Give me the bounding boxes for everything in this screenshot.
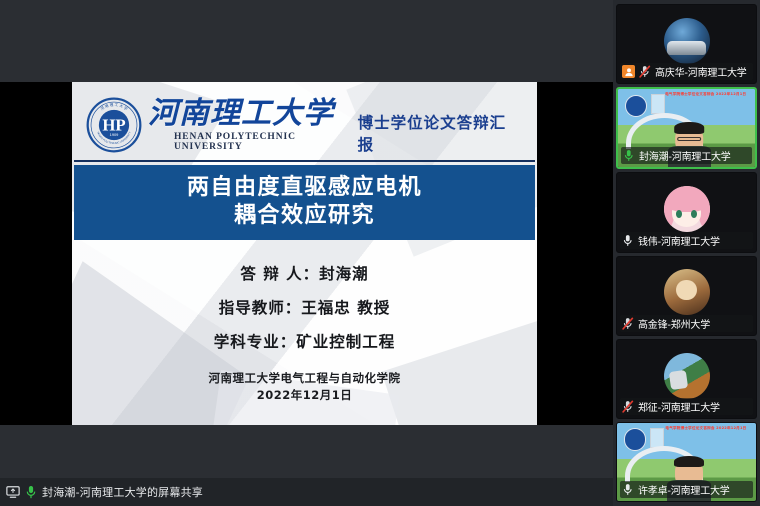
field-presenter: 答 辩 人：封海潮 xyxy=(72,262,537,284)
slide-title-line-1: 两自由度直驱感应电机 xyxy=(74,174,535,202)
participant-label: 高金锋-郑州大学 xyxy=(620,315,753,332)
share-status-label: 封海潮-河南理工大学的屏幕共享 xyxy=(42,484,203,500)
participant-strip[interactable]: 高庆华-河南理工大学 电气学院博士学位论文答辩会 2022年12月1日 封海潮- xyxy=(613,0,760,506)
host-badge-icon xyxy=(622,65,635,78)
participant-tile[interactable]: 电气学院博士学位论文答辩会 2022年12月1日 许孝卓-河南理工大学 xyxy=(616,422,757,502)
participant-label: 郑征-河南理工大学 xyxy=(620,398,753,415)
participant-tile[interactable]: 郑征-河南理工大学 xyxy=(616,339,757,419)
participant-name: 高庆华-河南理工大学 xyxy=(655,64,747,79)
svg-text:1909: 1909 xyxy=(110,132,119,137)
seal-icon xyxy=(624,428,646,450)
university-logo-icon: HP 1909 河 南 理 工 大 学 HENAN POLYTECHNIC UN… xyxy=(86,97,142,153)
slide-footer: 河南理工大学电气工程与自动化学院 2022年12月1日 xyxy=(72,370,537,405)
avatar xyxy=(664,269,710,315)
mic-muted-icon xyxy=(622,317,634,330)
share-status-bar: 封海潮-河南理工大学的屏幕共享 xyxy=(0,478,613,506)
participant-name: 许孝卓-河南理工大学 xyxy=(638,482,730,497)
shared-screen-region[interactable]: HP 1909 河 南 理 工 大 学 HENAN POLYTECHNIC UN… xyxy=(0,0,613,478)
participant-label: 许孝卓-河南理工大学 xyxy=(620,481,753,498)
participant-name: 封海潮-河南理工大学 xyxy=(639,148,731,163)
university-name-en: HENAN POLYTECHNIC UNIVERSITY xyxy=(174,132,358,152)
participant-tile[interactable]: 钱伟-河南理工大学 xyxy=(616,172,757,252)
field-supervisor: 指导教师：王福忠 教授 xyxy=(72,296,537,318)
mic-muted-icon xyxy=(622,400,634,413)
screen-share-icon xyxy=(6,485,20,499)
mic-unmuted-icon xyxy=(622,234,634,247)
slide-title-line-2: 耦合效应研究 xyxy=(74,202,535,230)
participant-tile[interactable]: 高庆华-河南理工大学 xyxy=(616,4,757,84)
participant-label: 钱伟-河南理工大学 xyxy=(620,232,753,249)
participant-label: 封海潮-河南理工大学 xyxy=(621,147,752,164)
participant-name: 高金锋-郑州大学 xyxy=(638,316,710,331)
university-wordmark: 河南理工大学 HENAN POLYTECHNIC UNIVERSITY xyxy=(148,98,358,152)
university-name-cn: 河南理工大学 xyxy=(148,98,358,130)
participant-name: 郑征-河南理工大学 xyxy=(638,399,720,414)
video-banner-text: 电气学院博士学位论文答辩会 2022年12月1日 xyxy=(663,92,748,108)
avatar xyxy=(664,18,710,64)
mic-unmuted-icon xyxy=(623,149,635,162)
footer-organization: 河南理工大学电气工程与自动化学院 xyxy=(72,370,537,387)
mic-unmuted-icon xyxy=(622,483,634,496)
slide-info-block: 答 辩 人：封海潮 指导教师：王福忠 教授 学科专业：矿业控制工程 xyxy=(72,262,537,352)
field-major: 学科专业：矿业控制工程 xyxy=(72,330,537,352)
footer-date: 2022年12月1日 xyxy=(72,387,537,404)
avatar xyxy=(664,353,710,399)
participant-name: 钱伟-河南理工大学 xyxy=(638,233,720,248)
report-type-label: 博士学位论文答辩汇报 xyxy=(358,111,515,155)
video-banner-text: 电气学院博士学位论文答辩会 2022年12月1日 xyxy=(663,426,749,442)
slide-title-band: 两自由度直驱感应电机 耦合效应研究 xyxy=(74,165,535,240)
participant-tile[interactable]: 电气学院博士学位论文答辩会 2022年12月1日 封海潮-河南理工大学 xyxy=(616,87,757,169)
participant-tile[interactable]: 高金锋-郑州大学 xyxy=(616,256,757,336)
slide-header: HP 1909 河 南 理 工 大 学 HENAN POLYTECHNIC UN… xyxy=(72,82,537,160)
mic-unmuted-icon xyxy=(25,485,37,499)
participant-label: 高庆华-河南理工大学 xyxy=(620,63,753,80)
avatar xyxy=(664,186,710,232)
header-divider xyxy=(74,160,535,162)
seal-icon xyxy=(625,95,647,117)
presentation-slide: HP 1909 河 南 理 工 大 学 HENAN POLYTECHNIC UN… xyxy=(72,82,537,425)
mic-muted-icon xyxy=(639,65,651,78)
